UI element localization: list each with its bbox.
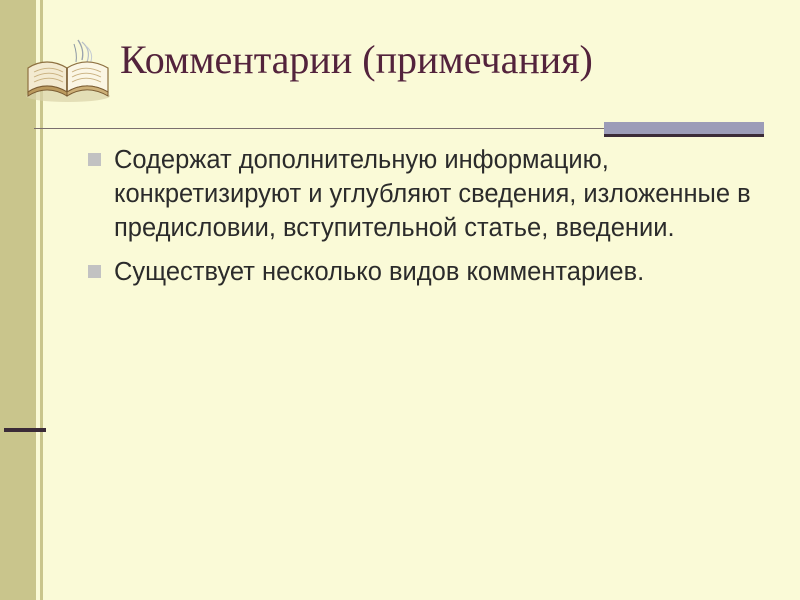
band-accent-tick — [4, 428, 46, 432]
list-item-text: Содержат дополнительную информацию, конк… — [114, 144, 768, 246]
list-item: Существует несколько видов комментариев. — [88, 256, 768, 290]
title-divider-accent — [604, 122, 764, 137]
square-bullet-icon — [88, 265, 101, 278]
page-title: Комментарии (примечания) — [120, 38, 780, 82]
open-book-icon — [20, 38, 120, 104]
list-item-text: Существует несколько видов комментариев. — [114, 256, 768, 290]
bullet-list: Содержат дополнительную информацию, конк… — [88, 144, 768, 300]
list-item: Содержат дополнительную информацию, конк… — [88, 144, 768, 246]
slide-canvas: Комментарии (примечания) Содержат дополн… — [0, 0, 800, 600]
square-bullet-icon — [88, 153, 101, 166]
